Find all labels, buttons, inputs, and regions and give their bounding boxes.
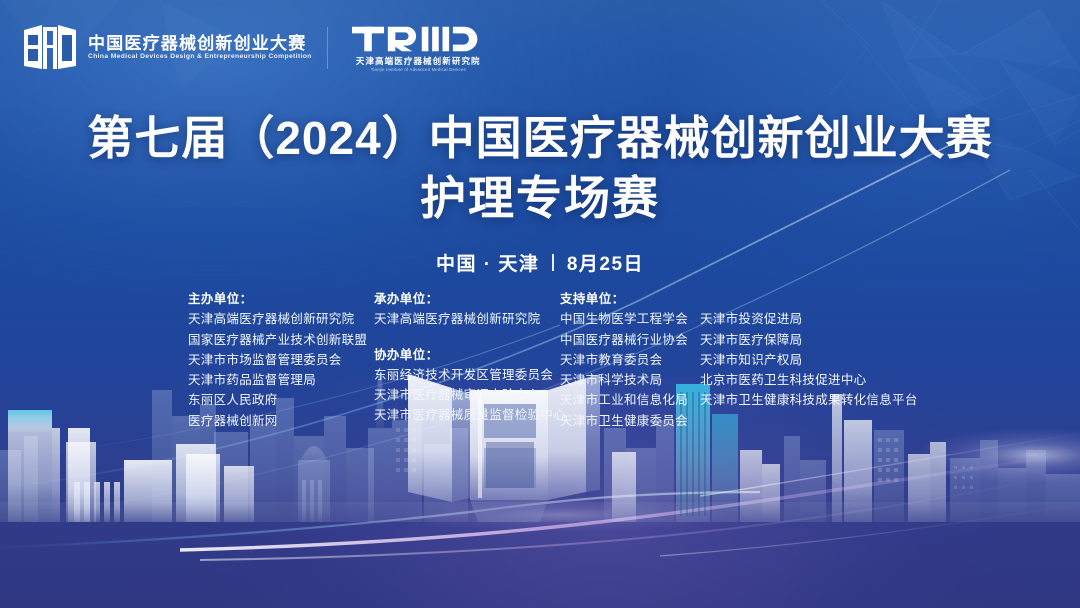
open-door-book-logo-icon [22,23,78,73]
organizer-item: 天津市医疗保障局 [700,330,918,350]
organizer-item: 天津市工业和信息化局 [560,390,688,410]
organizer-column-organizer: 承办单位： 天津高端医疗器械创新研究院 协办单位： 东丽经济技术开发区管理委员会… [374,289,560,426]
event-poster: 中国医疗器械创新创业大赛 China Medical Devices Desig… [0,0,1080,608]
logo-divider [327,27,328,69]
secondary-logo-title: 天津高端医疗器械创新研究院 [356,57,481,66]
header-logos: 中国医疗器械创新创业大赛 China Medical Devices Desig… [0,0,1080,96]
organizer-group-title: 承办单位： [374,289,560,309]
primary-logo-subtitle: China Medical Devices Design & Entrepren… [88,54,312,61]
secondary-logo-subtitle: Tianjin Institute of Advanced Medical De… [371,68,466,72]
event-date: 8月25日 [567,249,644,276]
organizer-group-title: 支持单位： [560,289,918,309]
title-block: 第七届（2024）中国医疗器械创新创业大赛 护理专场赛 中国 · 天津 8月25… [0,110,1080,276]
organizer-item: 天津市知识产权局 [700,350,918,370]
organizer-group-title: 协办单位： [374,345,560,365]
main-title-line1: 第七届（2024）中国医疗器械创新创业大赛 [0,110,1080,168]
primary-logo-title: 中国医疗器械创新创业大赛 [88,35,307,53]
event-location: 中国 · 天津 [436,249,539,276]
organizer-item: 天津市市场监督管理委员会 [188,350,374,370]
organizer-group-host: 主办单位： 天津高端医疗器械创新研究院 国家医疗器械产业技术创新联盟 天津市市场… [188,289,374,431]
secondary-logo[interactable]: 天津高端医疗器械创新研究院 Tianjin Institute of Advan… [352,24,484,73]
organizers-block: 主办单位： 天津高端医疗器械创新研究院 国家医疗器械产业技术创新联盟 天津市市场… [188,289,918,431]
organizer-group-undertaker: 承办单位： 天津高端医疗器械创新研究院 [374,289,560,330]
organizer-item: 北京市医药卫生科技促进中心 [700,370,918,390]
organizer-item: 中国医疗器械行业协会 [560,330,688,350]
support-subcolumn-right: 天津市投资促进局 天津市医疗保障局 天津市知识产权局 北京市医药卫生科技促进中心… [700,309,918,431]
organizer-item: 天津市卫生健康委员会 [560,411,688,431]
organizer-item: 医疗器械创新网 [188,411,374,431]
organizer-item: 天津市医疗器械质量监督检验中心 [374,405,560,425]
organizer-item: 天津市药品监督管理局 [188,370,374,390]
organizer-group-support: 支持单位： 中国生物医学工程学会 中国医疗器械行业协会 天津市教育委员会 天津市… [560,289,918,431]
organizer-item: 天津高端医疗器械创新研究院 [374,309,560,329]
organizer-item: 天津市教育委员会 [560,350,688,370]
organizer-group-title: 主办单位： [188,289,374,309]
event-subtitle: 中国 · 天津 8月25日 [0,249,1080,276]
trmd-wordmark-icon [352,24,484,54]
organizer-item: 天津市投资促进局 [700,309,918,329]
support-subcolumn-left: 中国生物医学工程学会 中国医疗器械行业协会 天津市教育委员会 天津市科学技术局 … [560,309,688,431]
support-subcolumns: 中国生物医学工程学会 中国医疗器械行业协会 天津市教育委员会 天津市科学技术局 … [560,309,918,431]
organizer-item: 东丽区人民政府 [188,390,374,410]
main-title-line2: 护理专场赛 [0,170,1080,228]
organizer-item: 天津市医疗器械审评查验中心 [374,385,560,405]
primary-logo[interactable]: 中国医疗器械创新创业大赛 China Medical Devices Desig… [22,23,307,73]
organizer-item: 中国生物医学工程学会 [560,309,688,329]
organizer-column-host: 主办单位： 天津高端医疗器械创新研究院 国家医疗器械产业技术创新联盟 天津市市场… [188,289,374,431]
subtitle-separator [552,254,554,271]
organizer-group-coorganizer: 协办单位： 东丽经济技术开发区管理委员会 天津市医疗器械审评查验中心 天津市医疗… [374,345,560,426]
organizer-item: 东丽经济技术开发区管理委员会 [374,365,560,385]
organizer-item: 天津高端医疗器械创新研究院 [188,309,374,329]
organizer-column-supporters: 支持单位： 中国生物医学工程学会 中国医疗器械行业协会 天津市教育委员会 天津市… [560,289,918,431]
organizer-item: 国家医疗器械产业技术创新联盟 [188,330,374,350]
organizer-item: 天津市科学技术局 [560,370,688,390]
organizer-item: 天津市卫生健康科技成果转化信息平台 [700,390,918,410]
